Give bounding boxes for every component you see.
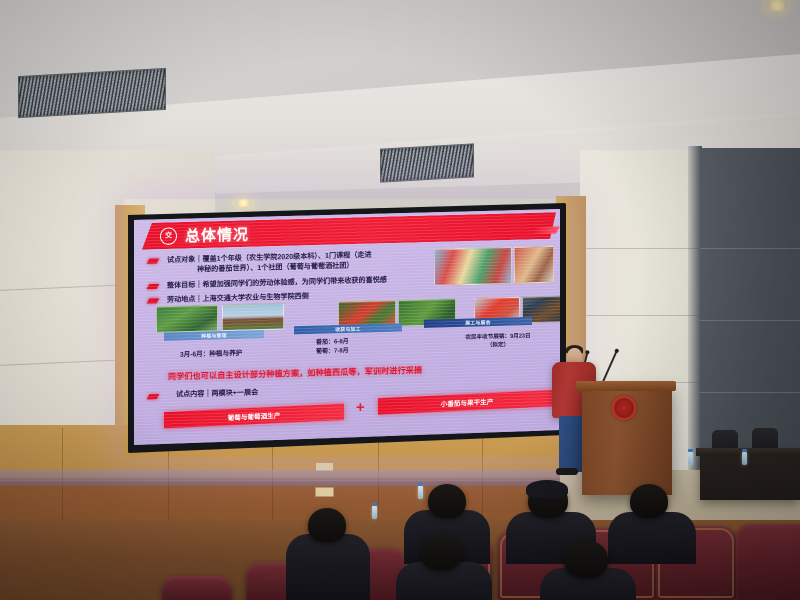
- slide-header-accent: [530, 226, 560, 234]
- audience-cap: [526, 480, 568, 498]
- thumbnail-image: [156, 305, 218, 333]
- stage-bar-label: 收获与加工: [294, 323, 402, 334]
- hvac-vent-icon: [380, 143, 474, 182]
- stage-bar-label: 种植与管理: [164, 330, 264, 341]
- bullet-marker-icon: [147, 298, 160, 303]
- bullet-item: 试点对象｜覆盖1个年级（农生学院2020级本科）、1门课程（走进 神秘的番茄世界…: [148, 248, 440, 277]
- timeline-phase-two-line2: 葡萄：7-8月: [316, 347, 349, 357]
- bottle-cap: [688, 449, 693, 452]
- auditorium-seat: [162, 576, 232, 600]
- water-bottle: [688, 452, 693, 465]
- recessed-downlight-icon: [766, 0, 788, 11]
- timeline-phase-three-line2: （拟定）: [440, 340, 556, 351]
- panel-table-surface: [696, 448, 800, 456]
- audience-member: [286, 534, 370, 600]
- slide-photo-thumbnail: [434, 247, 512, 286]
- auditorium-seat: [736, 524, 800, 600]
- university-logo-icon: 交: [160, 227, 177, 245]
- recessed-downlight-icon: [236, 199, 251, 207]
- audience-head: [428, 484, 466, 518]
- module-box-left: 葡萄与葡萄酒生产: [164, 404, 344, 429]
- wall-seam: [700, 248, 800, 249]
- podium-top-surface: [576, 381, 676, 391]
- wall-panel-dark: [700, 148, 800, 478]
- audience-member: [608, 512, 696, 564]
- hvac-vent-icon: [18, 68, 166, 118]
- university-emblem-icon: [612, 396, 636, 420]
- bottle-cap: [742, 449, 747, 452]
- presentation-slide: 交 总体情况 试点对象｜覆盖1个年级（农生学院2020级本科）、1门课程（走进 …: [134, 209, 560, 445]
- audience-head: [630, 484, 668, 518]
- timeline-phase-two: 番茄：6-8月 葡萄：7-8月: [316, 338, 349, 357]
- audience-head: [420, 534, 462, 570]
- wall-seam: [700, 320, 800, 321]
- timeline-phase-three: 农民丰收节展销：9月23日 （拟定）: [440, 332, 556, 352]
- bullet-marker-icon: [147, 258, 160, 263]
- speaker-shoe: [556, 468, 578, 475]
- content-section-label: 试点内容｜两模块+一展会: [176, 387, 258, 399]
- audience-seating: [0, 478, 800, 600]
- audience-head: [308, 508, 346, 542]
- thumbnail-image: [222, 303, 284, 331]
- bullet-marker-icon: [147, 283, 160, 288]
- timeline-phase-one: 3月-6月：种植与养护: [180, 347, 242, 359]
- lecture-hall-scene: 交 总体情况 试点对象｜覆盖1个年级（农生学院2020级本科）、1门课程（走进 …: [0, 0, 800, 600]
- water-bottle: [742, 452, 747, 465]
- module-plus-symbol: +: [356, 399, 365, 417]
- stage-bar-label: 展工与展会: [424, 317, 532, 328]
- content-module-boxes: 葡萄与葡萄酒生产 + 小番茄与果干生产: [164, 394, 556, 427]
- wall-seam: [700, 392, 800, 393]
- led-video-wall[interactable]: 交 总体情况 试点对象｜覆盖1个年级（农生学院2020级本科）、1门课程（走进 …: [134, 209, 560, 445]
- slide-content-section: 试点内容｜两模块+一展会 葡萄与葡萄酒生产 + 小番茄与果干生产: [148, 380, 552, 401]
- bullet-marker-icon: [147, 394, 160, 399]
- slide-title: 总体情况: [185, 223, 249, 246]
- bullet-text: 整体目标｜希望加强同学们的劳动体验感，为同学们带来收获的喜悦感: [167, 274, 387, 290]
- audience-head: [564, 540, 608, 578]
- bullet-text: 试点对象｜覆盖1个年级（农生学院2020级本科）、1门课程（走进 神秘的番茄世界…: [167, 250, 372, 276]
- slide-photo-thumbnail: [514, 246, 554, 284]
